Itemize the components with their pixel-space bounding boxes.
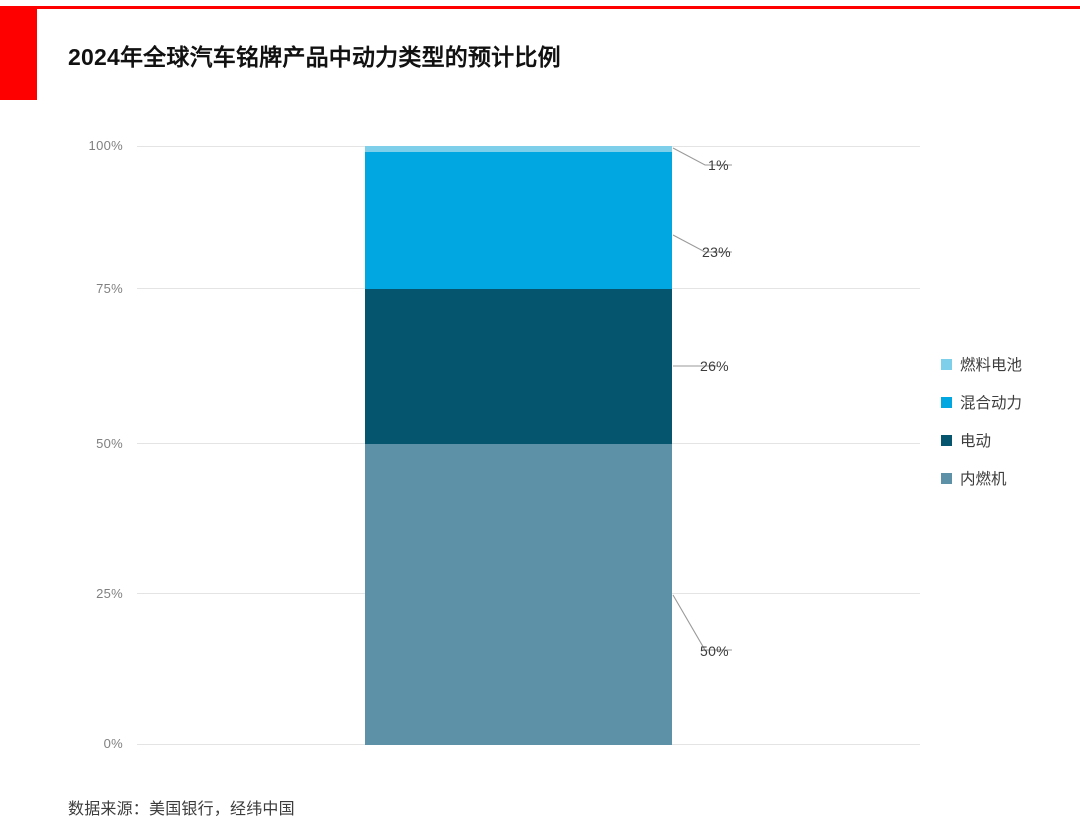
legend-item-fuel-cell[interactable]: 燃料电池 bbox=[941, 345, 1022, 383]
legend-swatch-icon-fuel-cell bbox=[941, 359, 952, 370]
y-axis-label-25: 25% bbox=[63, 586, 123, 601]
bar-segment-hybrid[interactable] bbox=[365, 152, 672, 289]
stacked-bar[interactable] bbox=[365, 146, 672, 745]
data-label-electric: 26% bbox=[700, 358, 729, 374]
legend-label-fuel-cell: 燃料电池 bbox=[960, 353, 1022, 375]
data-label-hybrid: 23% bbox=[702, 244, 731, 260]
bar-segment-ice[interactable] bbox=[365, 444, 672, 745]
data-label-fuel-cell: 1% bbox=[708, 157, 729, 173]
chart-title: 2024年全球汽车铭牌产品中动力类型的预计比例 bbox=[68, 38, 561, 72]
legend-swatch-icon-hybrid bbox=[941, 397, 952, 408]
source-note: 数据来源：美国银行，经纬中国 bbox=[68, 795, 295, 819]
data-label-ice: 50% bbox=[700, 643, 729, 659]
legend-label-electric: 电动 bbox=[960, 429, 991, 451]
legend-item-ice[interactable]: 内燃机 bbox=[941, 459, 1022, 497]
brand-accent-block bbox=[0, 8, 37, 100]
legend-item-electric[interactable]: 电动 bbox=[941, 421, 1022, 459]
y-axis-label-0: 0% bbox=[63, 736, 123, 751]
bar-segment-electric[interactable] bbox=[365, 289, 672, 444]
chart-legend: 燃料电池 混合动力 电动 内燃机 bbox=[941, 345, 1022, 497]
legend-swatch-icon-electric bbox=[941, 435, 952, 446]
legend-swatch-icon-ice bbox=[941, 473, 952, 484]
top-accent-rule bbox=[0, 6, 1080, 9]
y-axis-label-75: 75% bbox=[63, 281, 123, 296]
legend-label-hybrid: 混合动力 bbox=[960, 391, 1022, 413]
plot-area bbox=[137, 146, 920, 745]
legend-label-ice: 内燃机 bbox=[960, 467, 1007, 489]
legend-item-hybrid[interactable]: 混合动力 bbox=[941, 383, 1022, 421]
data-label-leader-lines bbox=[670, 140, 800, 680]
y-axis-label-50: 50% bbox=[63, 436, 123, 451]
y-axis-label-100: 100% bbox=[63, 138, 123, 153]
